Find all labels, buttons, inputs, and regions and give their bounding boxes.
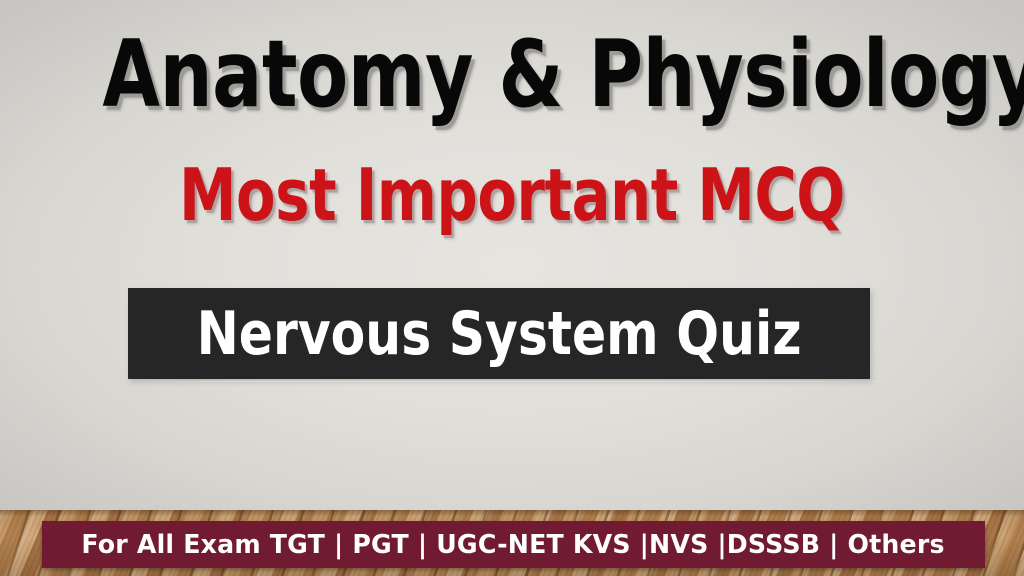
wall-seam-divider [128,381,896,382]
exam-list-banner: For All Exam TGT | PGT | UGC-NET KVS |NV… [42,521,985,568]
page-title: Anatomy & Physiology [102,24,921,124]
page-subtitle: Most Important MCQ [102,155,921,235]
quiz-title-label: Nervous System Quiz [197,302,802,366]
quiz-title-box: Nervous System Quiz [128,288,870,379]
poster-canvas: Anatomy & Physiology Most Important MCQ … [0,0,1024,576]
exam-list-label: For All Exam TGT | PGT | UGC-NET KVS |NV… [82,530,945,560]
